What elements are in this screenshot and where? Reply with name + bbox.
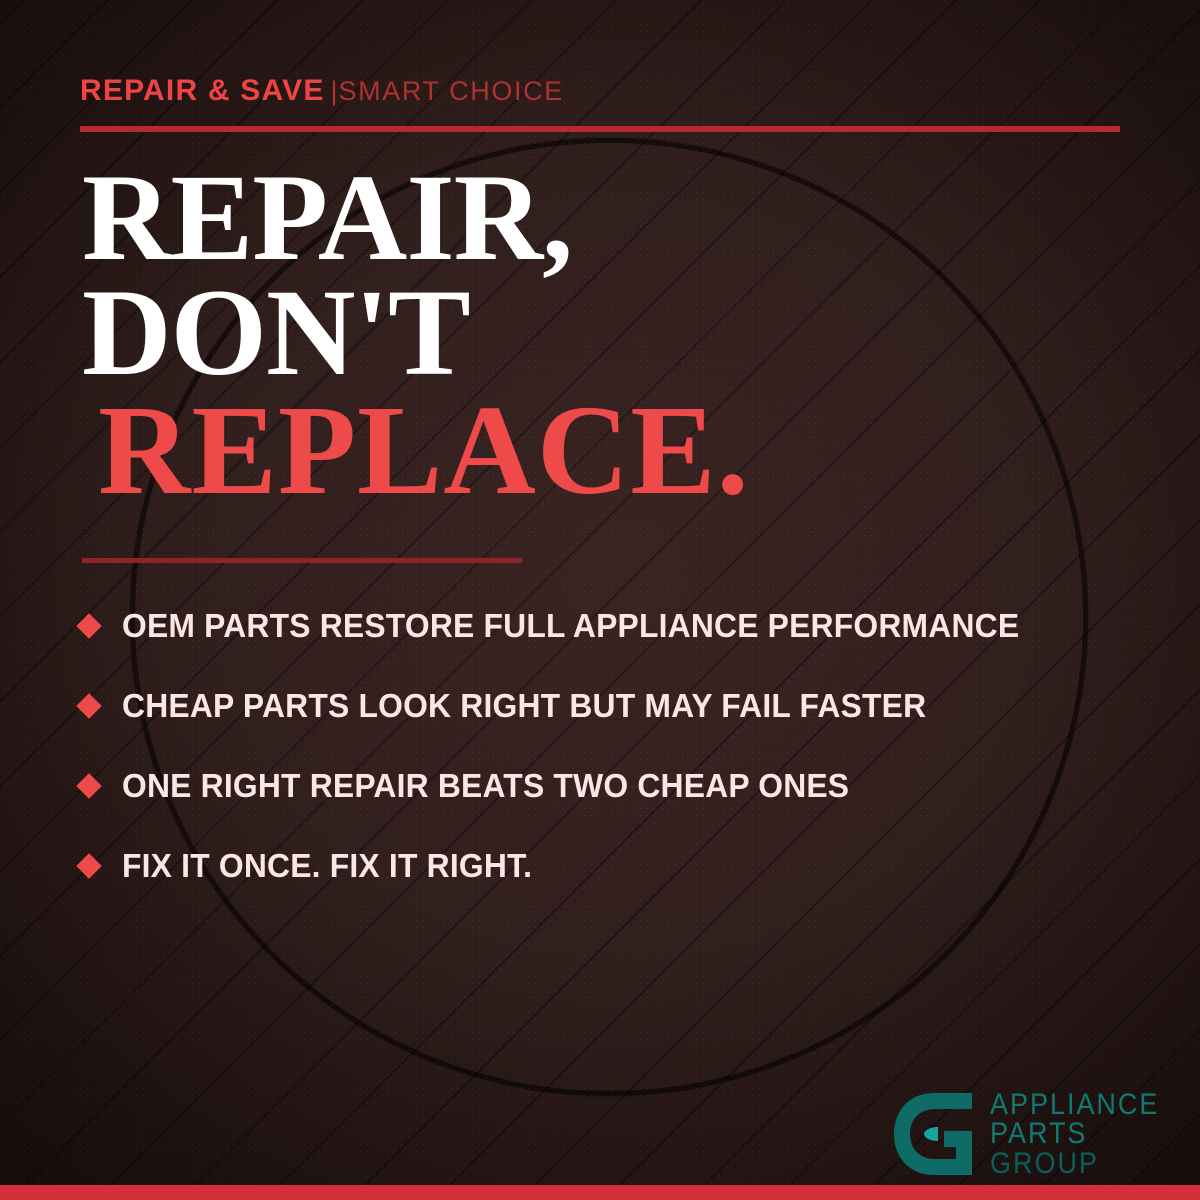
page-title: REPAIR, DON'T REPLACE. — [82, 160, 750, 510]
benefit-list: OEM PARTS RESTORE FULL APPLIANCE PERFORM… — [80, 586, 1150, 906]
diamond-icon — [76, 773, 101, 798]
promo-poster: REPAIR & SAVE|SMART CHOICE REPAIR, DON'T… — [0, 0, 1200, 1200]
eyebrow: REPAIR & SAVE|SMART CHOICE — [80, 74, 564, 108]
brand-line-3: GROUP — [990, 1149, 1159, 1178]
list-item: CHEAP PARTS LOOK RIGHT BUT MAY FAIL FAST… — [80, 666, 1150, 746]
poster-content: REPAIR & SAVE|SMART CHOICE REPAIR, DON'T… — [0, 0, 1200, 1200]
headline-line-2: DON'T — [82, 275, 750, 390]
g-monogram-icon — [892, 1091, 976, 1177]
diamond-icon — [76, 693, 101, 718]
headline-line-1: REPAIR, — [82, 160, 750, 275]
top-divider-rule — [80, 126, 1120, 132]
eyebrow-kicker: REPAIR & SAVE — [80, 74, 325, 107]
mid-divider-rule — [82, 558, 522, 563]
diamond-icon — [76, 613, 101, 638]
brand-line-2: PARTS — [990, 1119, 1159, 1148]
brand-logo: APPLIANCE PARTS GROUP — [892, 1090, 1178, 1178]
eyebrow-separator: | — [325, 76, 339, 106]
list-item: OEM PARTS RESTORE FULL APPLIANCE PERFORM… — [80, 586, 1150, 666]
headline-line-3: REPLACE. — [82, 391, 750, 510]
list-item-label: CHEAP PARTS LOOK RIGHT BUT MAY FAIL FAST… — [122, 687, 926, 725]
brand-line-1: APPLIANCE — [990, 1090, 1159, 1119]
bottom-accent-bar — [0, 1185, 1200, 1200]
brand-wordmark: APPLIANCE PARTS GROUP — [990, 1090, 1178, 1178]
list-item-label: FIX IT ONCE. FIX IT RIGHT. — [122, 847, 532, 885]
diamond-icon — [76, 853, 101, 878]
eyebrow-subtitle: SMART CHOICE — [339, 76, 564, 106]
list-item-label: ONE RIGHT REPAIR BEATS TWO CHEAP ONES — [122, 767, 849, 805]
list-item: FIX IT ONCE. FIX IT RIGHT. — [80, 826, 1150, 906]
list-item: ONE RIGHT REPAIR BEATS TWO CHEAP ONES — [80, 746, 1150, 826]
list-item-label: OEM PARTS RESTORE FULL APPLIANCE PERFORM… — [122, 607, 1019, 645]
